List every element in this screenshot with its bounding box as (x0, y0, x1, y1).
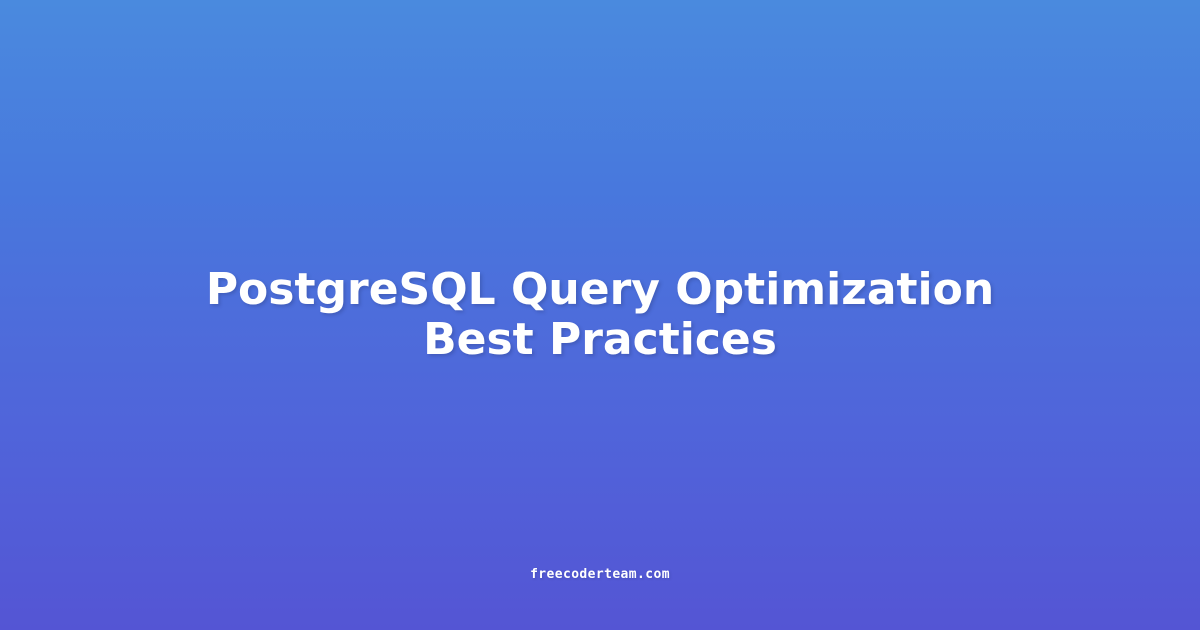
site-attribution: freecoderteam.com (0, 567, 1200, 583)
open-graph-card: PostgreSQL Query Optimization Best Pract… (0, 0, 1200, 630)
title-container: PostgreSQL Query Optimization Best Pract… (0, 0, 1200, 630)
page-title: PostgreSQL Query Optimization Best Pract… (150, 265, 1050, 365)
